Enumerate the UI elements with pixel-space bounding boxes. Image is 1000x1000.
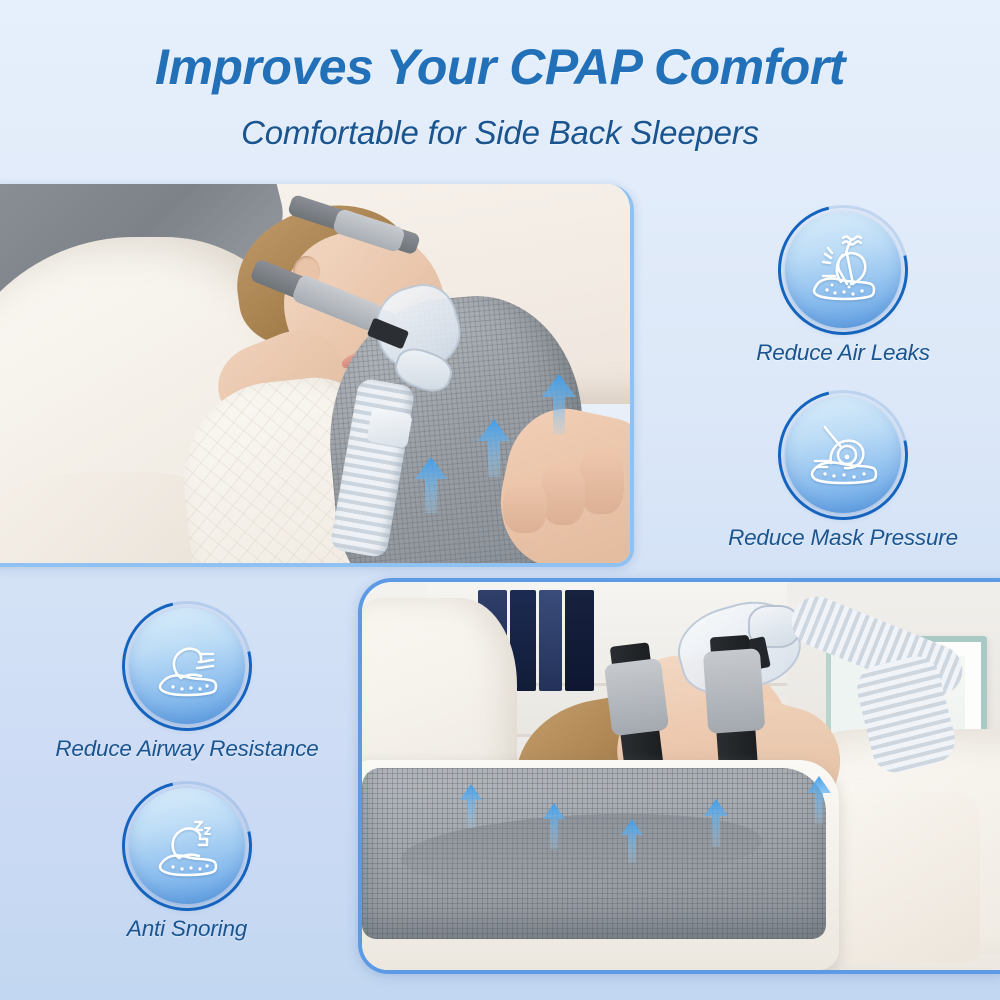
feature-reduce-airway-resistance: Reduce Airway Resistance [37, 608, 337, 762]
feature-label: Reduce Mask Pressure [693, 525, 993, 551]
header: Improves Your CPAP Comfort Comfortable f… [0, 0, 1000, 184]
air-leak-icon [785, 212, 901, 328]
back-sleeper-scene [362, 582, 1000, 970]
airflow-arrow [414, 457, 448, 513]
airflow-arrow [477, 419, 511, 477]
back-sleeper-photo [358, 578, 1000, 974]
airflow-arrow [541, 374, 577, 434]
feature-reduce-air-leaks: Reduce Air Leaks [693, 212, 993, 366]
airflow-arrow [703, 799, 729, 847]
airflow-arrow [459, 784, 483, 828]
anti-snoring-icon [129, 788, 245, 904]
page-subtitle: Comfortable for Side Back Sleepers [0, 114, 1000, 152]
airflow-arrow [542, 803, 566, 849]
feature-label: Reduce Airway Resistance [37, 736, 337, 762]
side-sleeper-photo [0, 184, 634, 567]
feature-anti-snoring: Anti Snoring [37, 788, 337, 942]
airflow-arrow [620, 819, 644, 863]
airflow-arrow [806, 776, 832, 824]
feature-label: Reduce Air Leaks [693, 340, 993, 366]
page-title: Improves Your CPAP Comfort [0, 38, 1000, 96]
airway-resistance-icon [129, 608, 245, 724]
feature-label: Anti Snoring [37, 916, 337, 942]
mask-pressure-icon [785, 397, 901, 513]
side-sleeper-scene [0, 184, 630, 563]
feature-reduce-mask-pressure: Reduce Mask Pressure [693, 397, 993, 551]
